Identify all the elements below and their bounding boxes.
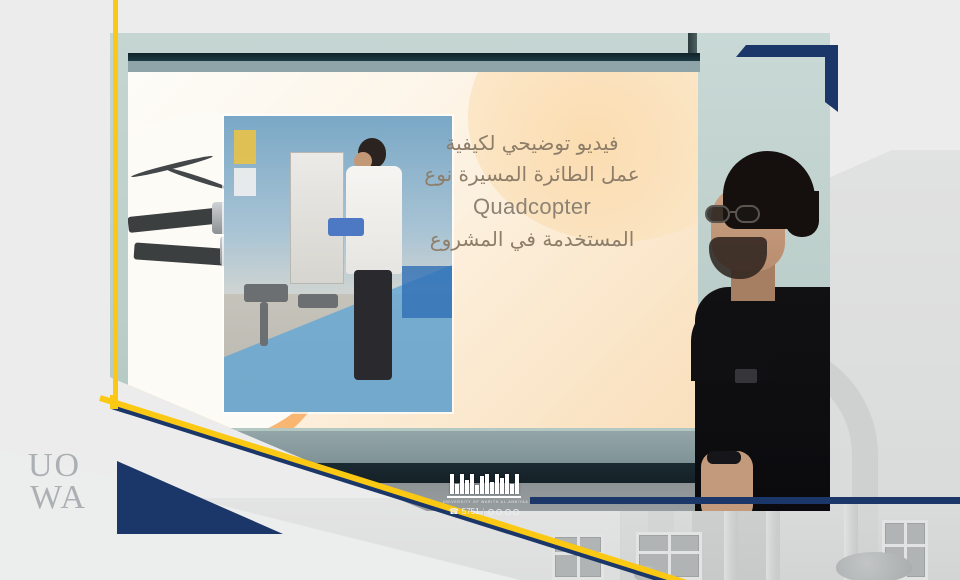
watermark-contact-row: ☎ 5751 | (443, 507, 525, 516)
wristwatch-icon (707, 451, 741, 464)
eyeglasses-icon (705, 205, 767, 223)
watermark-separator: | (483, 507, 485, 516)
presenter-shirt-logo (735, 369, 757, 383)
eyeglass-lens-left (705, 205, 730, 223)
screen-top-rail (128, 53, 700, 61)
presenter-shoulder (691, 301, 769, 381)
presentation-slide: فيديو توضيحي لكيفية عمل الطائرة المسيرة … (128, 72, 698, 428)
instagram-icon[interactable] (496, 509, 502, 515)
facebook-icon[interactable] (488, 509, 494, 515)
propeller-blade (131, 154, 214, 179)
slide-line-4: المستخدمة في المشروع (382, 224, 682, 255)
phone-icon: ☎ (449, 507, 459, 516)
propeller-blade (163, 165, 231, 191)
youtube-icon[interactable] (513, 509, 519, 515)
video-person-trousers (354, 270, 392, 380)
video-wall-poster (234, 168, 256, 196)
twitter-icon[interactable] (505, 509, 511, 515)
video-wall-poster (234, 130, 256, 164)
uowa-logo-line-2: WA (30, 482, 87, 514)
navy-corner-bracket (736, 45, 838, 112)
bracket-vertical-arm (825, 45, 838, 112)
navy-horizontal-rule (530, 497, 960, 504)
yellow-vertical-stripe (113, 0, 118, 408)
screen-top-rail-secondary (128, 61, 700, 72)
drone-arm (128, 207, 225, 233)
slide-line-1: فيديو توضيحي لكيفية (382, 128, 682, 159)
screenshot-stage: فيديو توضيحي لكيفية عمل الطائرة المسيرة … (0, 0, 960, 580)
video-chair (298, 294, 338, 308)
video-table (402, 266, 452, 318)
slide-text-block: فيديو توضيحي لكيفية عمل الطائرة المسيرة … (382, 128, 682, 255)
video-chair (260, 302, 268, 346)
hedge-bush (836, 552, 912, 580)
watermark-subtitle: UNIVERSITY OF WARITH AL-ANBIYAA (443, 500, 525, 504)
university-watermark: UNIVERSITY OF WARITH AL-ANBIYAA ☎ 5751 | (443, 472, 525, 516)
eyeglass-lens-right (735, 205, 760, 223)
presenter-figure (695, 151, 830, 511)
watermark-social-icons[interactable] (488, 509, 520, 515)
yellow-corner-joint (110, 395, 118, 409)
video-handheld-device (328, 218, 364, 236)
slide-line-3: Quadcopter (382, 190, 682, 224)
video-chair (244, 284, 288, 302)
bracket-horizontal-arm (736, 45, 838, 57)
slide-line-2: عمل الطائرة المسيرة نوع (382, 159, 682, 190)
kufic-logotype-icon (443, 472, 525, 494)
watermark-phone: 5751 (462, 507, 480, 516)
uowa-logo: UO WA (28, 450, 87, 515)
watermark-divider (447, 496, 521, 498)
uowa-logo-line-1: UO (28, 450, 87, 482)
